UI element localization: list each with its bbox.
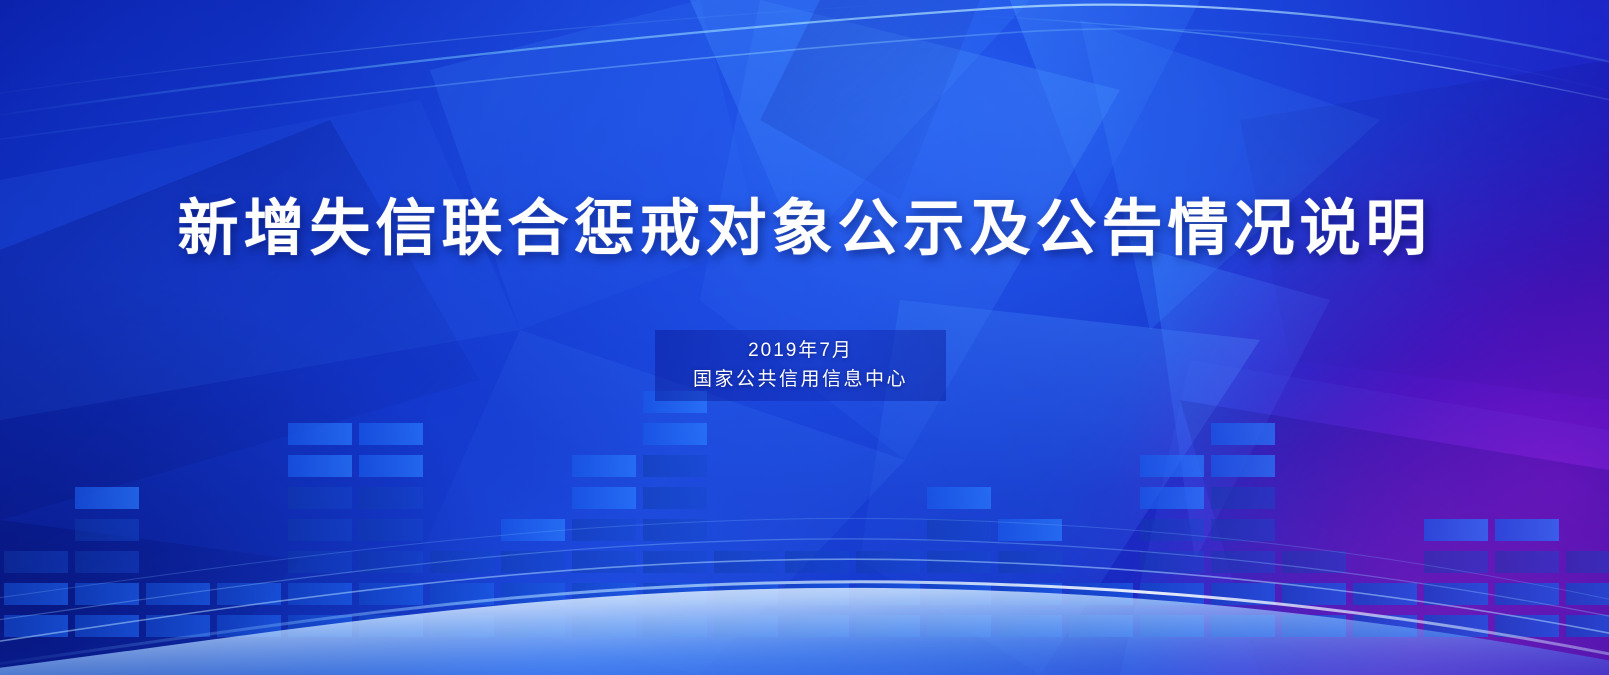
equalizer-bars — [0, 385, 1609, 675]
subtitle-date: 2019年7月 — [748, 337, 853, 366]
banner-title: 新增失信联合惩戒对象公示及公告情况说明 — [0, 193, 1609, 263]
subtitle-box: 2019年7月 国家公共信用信息中心 — [655, 330, 946, 401]
subtitle-organization: 国家公共信用信息中心 — [693, 366, 908, 395]
banner-root: 新增失信联合惩戒对象公示及公告情况说明 2019年7月 国家公共信用信息中心 — [0, 0, 1609, 675]
